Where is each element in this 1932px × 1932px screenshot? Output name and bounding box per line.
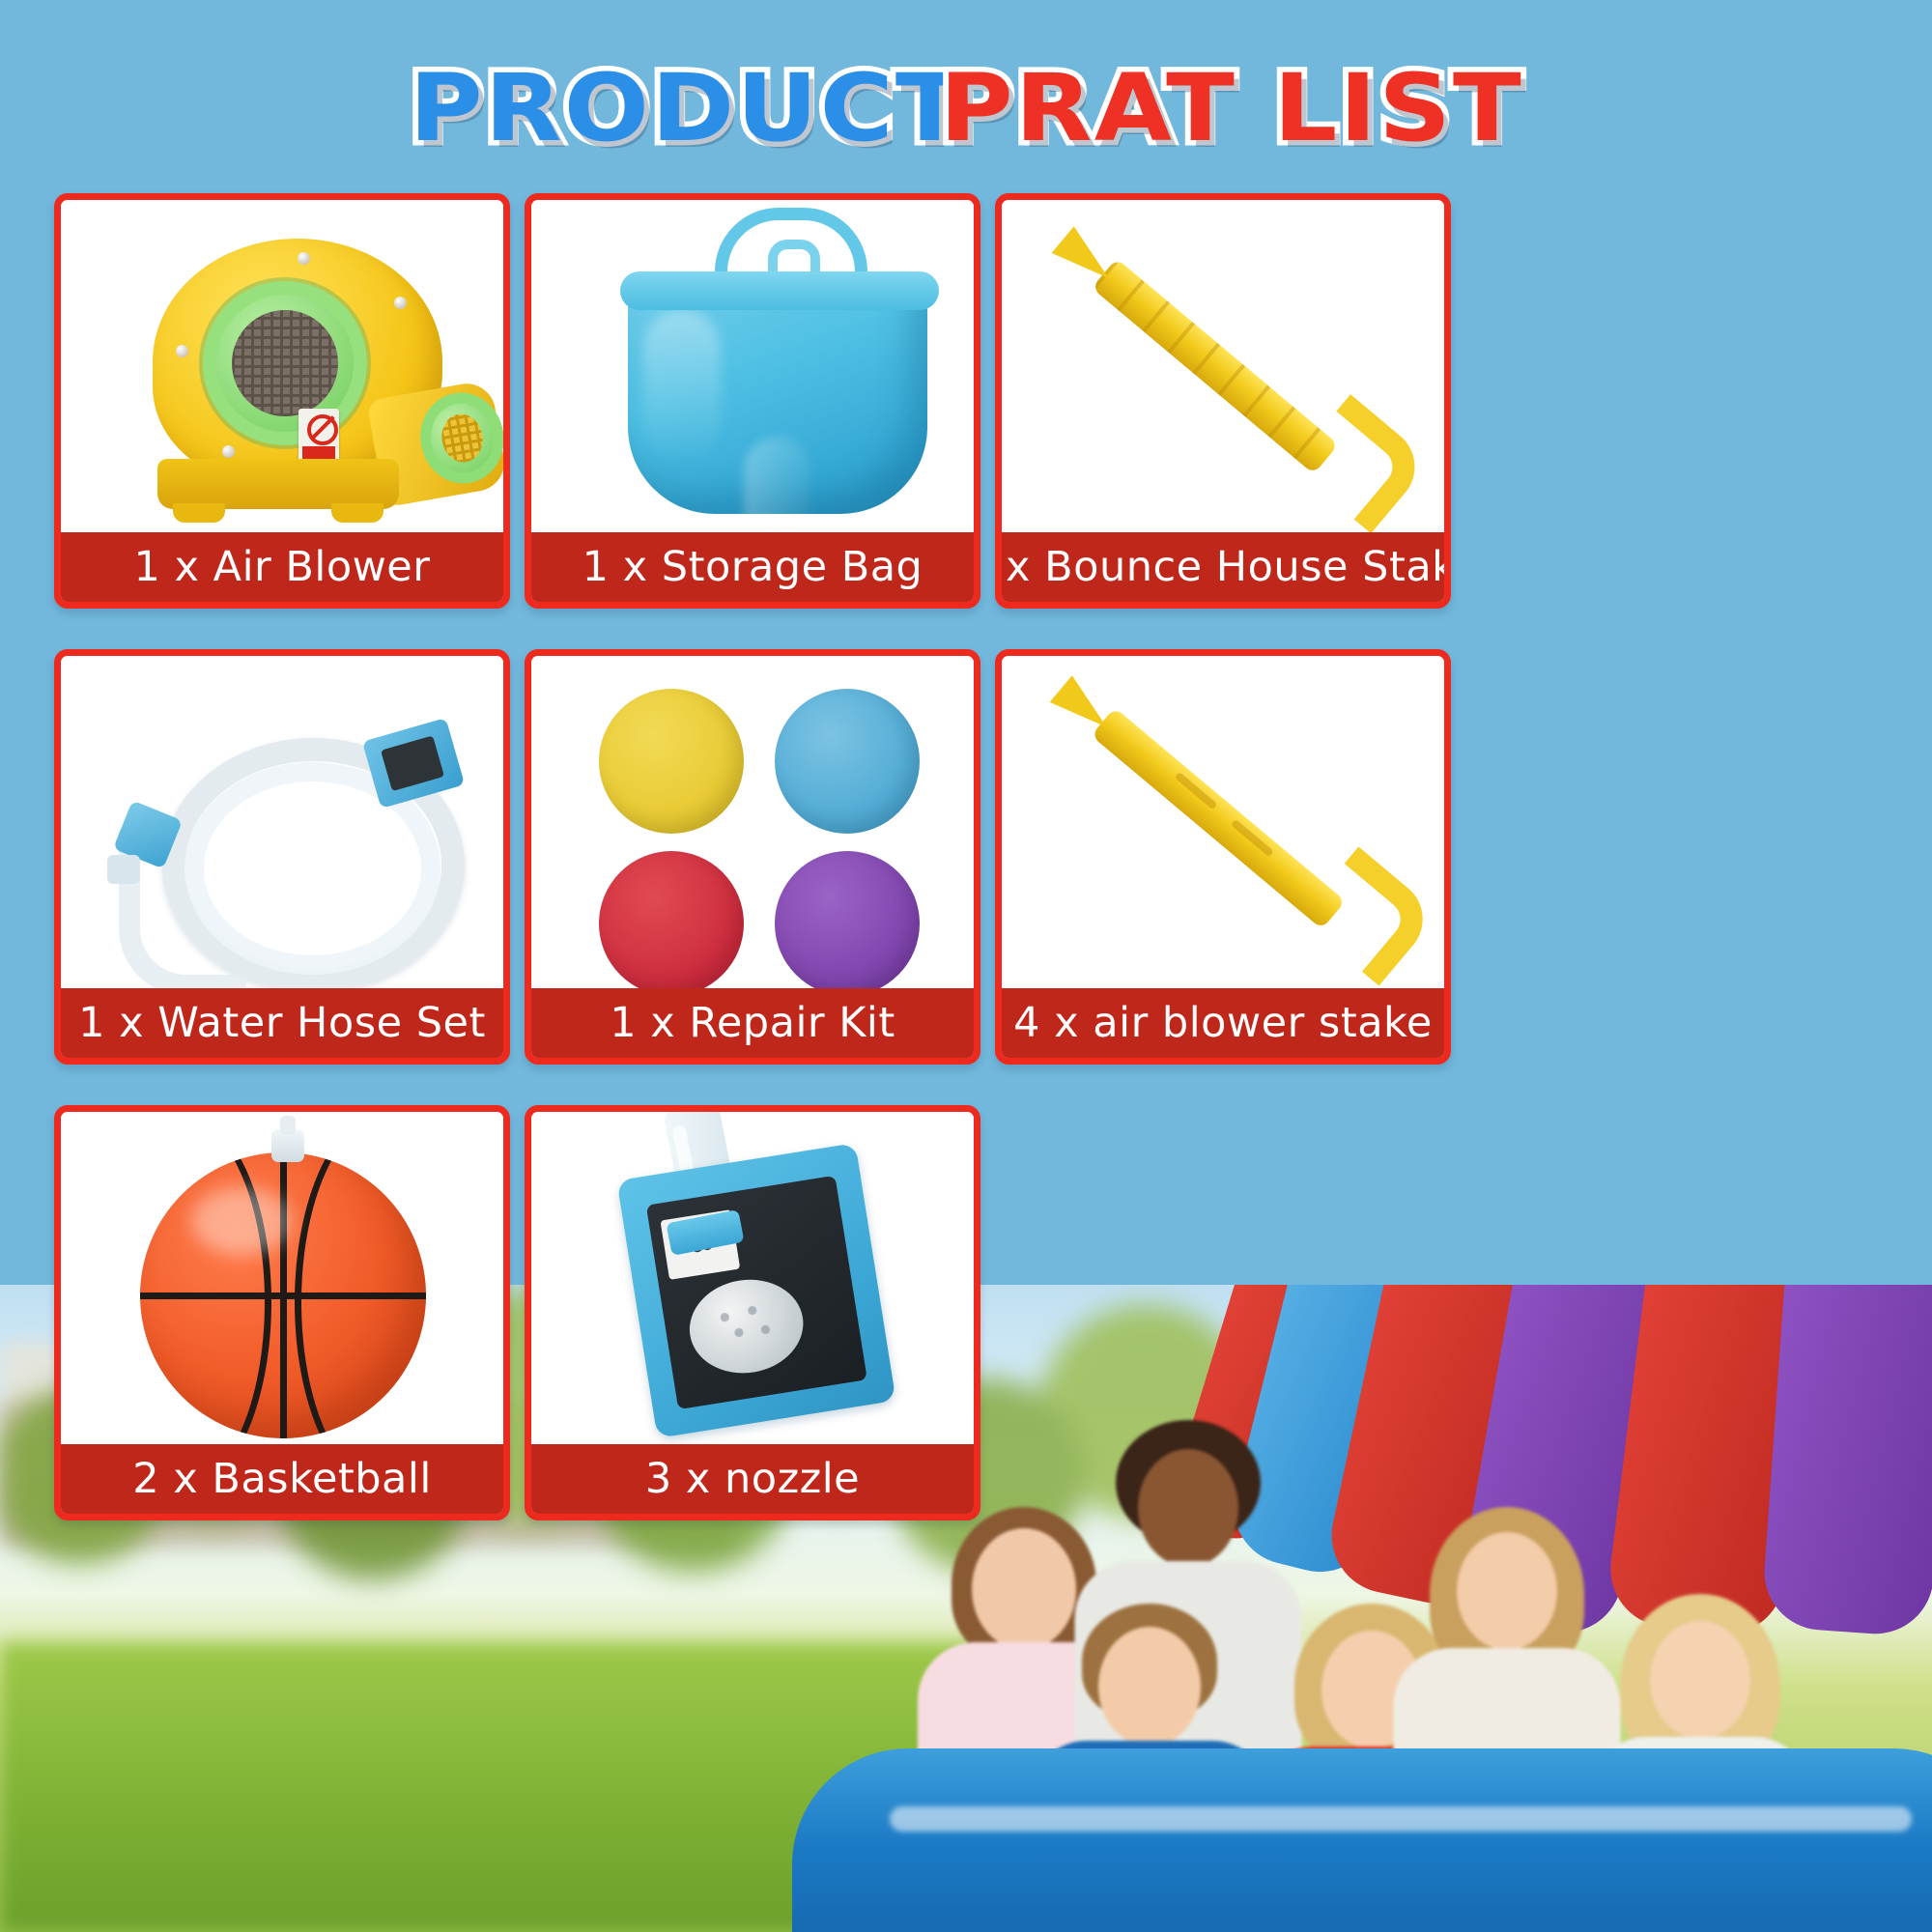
red-patch [599,851,744,988]
inflatable-pool-wall [792,1748,1932,1932]
yellow-patch [599,689,744,834]
air-blower-photo [61,200,503,532]
product-label-basketball: 2 x Basketball [61,1444,503,1514]
water-hose-photo [61,656,503,988]
product-card-repair-kit[interactable]: 1 x Repair Kit [525,649,980,1065]
product-card-nozzle[interactable]: 3 3 x nozzle [525,1105,980,1520]
page-title: PRODUCTPRAT LIST [0,54,1932,162]
product-label-nozzle: 3 x nozzle [531,1444,974,1514]
product-card-bounce-house-stake[interactable]: 9 x Bounce House Stake [995,193,1451,609]
product-label-air-blower-stake: 4 x air blower stake [1002,988,1444,1058]
ground-stake-icon [1002,200,1444,532]
purple-patch [775,851,920,988]
basketball-icon [61,1112,503,1444]
product-label-repair-kit: 1 x Repair Kit [531,988,974,1058]
product-card-water-hose-set[interactable]: 1 x Water Hose Set [54,649,510,1065]
product-card-air-blower-stake[interactable]: 4 x air blower stake [995,649,1451,1065]
blue-patch [775,689,920,834]
water-hose-icon [61,656,503,988]
blower-stake-icon [1002,656,1444,988]
product-card-air-blower[interactable]: 1 x Air Blower [54,193,510,609]
product-label-bounce-house-stake: 9 x Bounce House Stake [1002,532,1444,602]
inflation-valve-icon [271,1129,304,1162]
storage-bag-photo [531,200,974,532]
basketball-photo [61,1112,503,1444]
repair-patch-icon [531,656,974,988]
product-label-water-hose-set: 1 x Water Hose Set [61,988,503,1058]
bounce-house-stake-photo [1002,200,1444,532]
storage-bag-icon [531,200,974,532]
repair-kit-photo [531,656,974,988]
air-blower-stake-photo [1002,656,1444,988]
air-blower-icon [61,200,503,532]
product-label-storage-bag: 1 x Storage Bag [531,532,974,602]
product-card-storage-bag[interactable]: 1 x Storage Bag [525,193,980,609]
product-parts-grid: 1 x Air Blower 1 x Storage Bag [54,193,1880,1520]
spray-nozzle-icon: 3 [531,1112,974,1444]
nozzle-photo: 3 [531,1112,974,1444]
title-word-product: PRODUCT [410,54,966,162]
product-card-basketball[interactable]: 2 x Basketball [54,1105,510,1520]
product-label-air-blower: 1 x Air Blower [61,532,503,602]
lifestyle-photo-cell [995,1105,1451,1520]
title-word-prat-list: PRAT LIST [940,54,1523,162]
